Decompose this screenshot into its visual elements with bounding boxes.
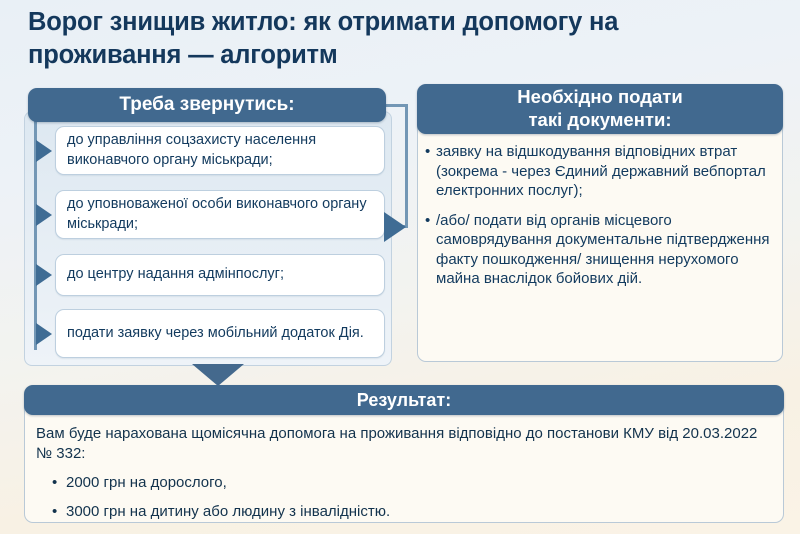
result-lead-text: Вам буде нарахована щомісячна допомога н… <box>36 424 776 465</box>
left-item-label-4: подати заявку через мобільний додаток Ді… <box>67 324 364 343</box>
left-item-label-2: до уповноваженої особи виконавчого орган… <box>67 195 374 234</box>
list-item: • /або/ подати від органів місцевого сам… <box>425 211 777 289</box>
right-column-header-line1: Необхідно подати <box>517 86 682 109</box>
arrow-down-icon <box>192 364 244 386</box>
page-title: Ворог знищив житло: як отримати допомогу… <box>28 6 768 72</box>
list-item: • заявку на відшкодування відповідних вт… <box>425 142 777 201</box>
infographic-root: Ворог знищив житло: як отримати допомогу… <box>0 0 800 534</box>
right-bullet-label-2: /або/ подати від органів місцевого самов… <box>436 211 777 289</box>
list-item: до уповноваженої особи виконавчого орган… <box>55 190 385 239</box>
list-item: до управління соцзахисту населення викон… <box>55 126 385 175</box>
right-column-header-line2: такі документи: <box>529 109 672 132</box>
result-body: Вам буде нарахована щомісячна допомога н… <box>36 424 776 531</box>
arrow-right-icon <box>36 140 52 162</box>
left-column-header-label: Треба звернутись: <box>119 94 294 116</box>
right-bullet-label-1: заявку на відшкодування відповідних втра… <box>436 142 777 201</box>
result-header: Результат: <box>24 385 784 415</box>
bullet-icon: • <box>425 142 436 201</box>
right-column-body: • заявку на відшкодування відповідних вт… <box>425 142 777 299</box>
arrow-right-large-icon <box>384 212 406 242</box>
list-item: до центру надання адмінпослуг; <box>55 254 385 296</box>
arrow-right-icon <box>36 264 52 286</box>
list-item: подати заявку через мобільний додаток Ді… <box>55 309 385 358</box>
left-item-label-3: до центру надання адмінпослуг; <box>67 265 284 284</box>
result-header-label: Результат: <box>357 390 451 411</box>
bullet-icon: • <box>425 211 436 289</box>
list-item: 3000 грн на дитину або людину з інвалідн… <box>66 502 776 522</box>
left-column-header: Треба звернутись: <box>28 88 386 122</box>
connector-line-vertical <box>405 104 408 228</box>
arrow-right-icon <box>36 323 52 345</box>
left-item-label-1: до управління соцзахисту населення викон… <box>67 131 374 170</box>
result-bullet-list: 2000 грн на дорослого, 3000 грн на дитин… <box>36 473 776 523</box>
list-item: 2000 грн на дорослого, <box>66 473 776 493</box>
right-column-header: Необхідно подати такі документи: <box>417 84 783 134</box>
arrow-right-icon <box>36 204 52 226</box>
